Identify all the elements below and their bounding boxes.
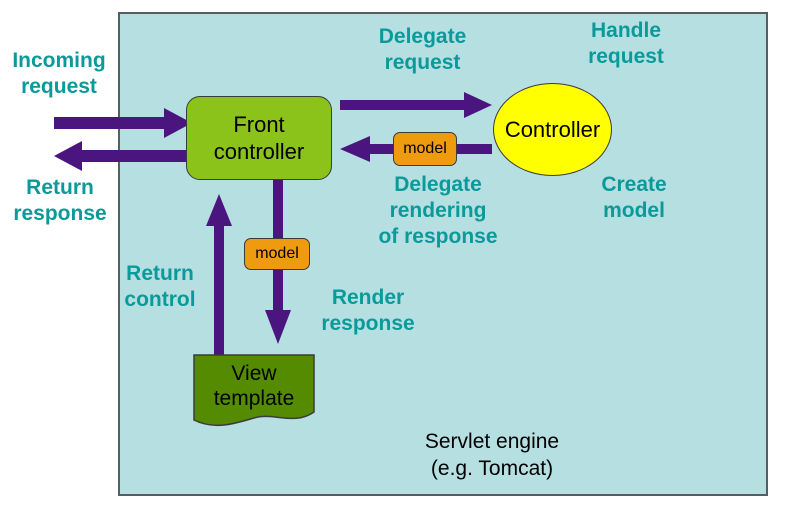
label-render-response: Render response bbox=[296, 285, 440, 337]
front-controller-label: Front controller bbox=[214, 111, 304, 165]
node-view-template[interactable]: View template bbox=[193, 354, 315, 427]
model-badge-label: model bbox=[255, 245, 299, 263]
diagram-canvas: Front controller Controller View templat… bbox=[0, 0, 800, 513]
label-handle-request: Handle request bbox=[552, 18, 700, 70]
arrow-incoming-request bbox=[52, 106, 194, 140]
servlet-engine-caption: Servlet engine (e.g. Tomcat) bbox=[352, 428, 632, 482]
node-front-controller[interactable]: Front controller bbox=[186, 96, 332, 180]
model-badge-vertical[interactable]: model bbox=[244, 238, 310, 270]
model-badge-label: model bbox=[403, 140, 447, 158]
label-create-model: Create model bbox=[566, 172, 702, 224]
label-return-control: Return control bbox=[110, 261, 210, 313]
arrow-delegate-request bbox=[338, 90, 494, 120]
label-delegate-rendering: Delegate rendering of response bbox=[356, 172, 520, 250]
controller-label: Controller bbox=[505, 117, 600, 143]
label-incoming-request: Incoming request bbox=[0, 48, 118, 100]
view-template-label: View template bbox=[193, 361, 315, 411]
arrow-return-control bbox=[204, 192, 234, 358]
label-return-response: Return response bbox=[0, 175, 120, 227]
model-badge-horizontal[interactable]: model bbox=[393, 132, 457, 166]
label-delegate-request: Delegate request bbox=[345, 24, 500, 76]
arrow-return-response bbox=[52, 139, 194, 173]
node-controller[interactable]: Controller bbox=[493, 83, 612, 176]
